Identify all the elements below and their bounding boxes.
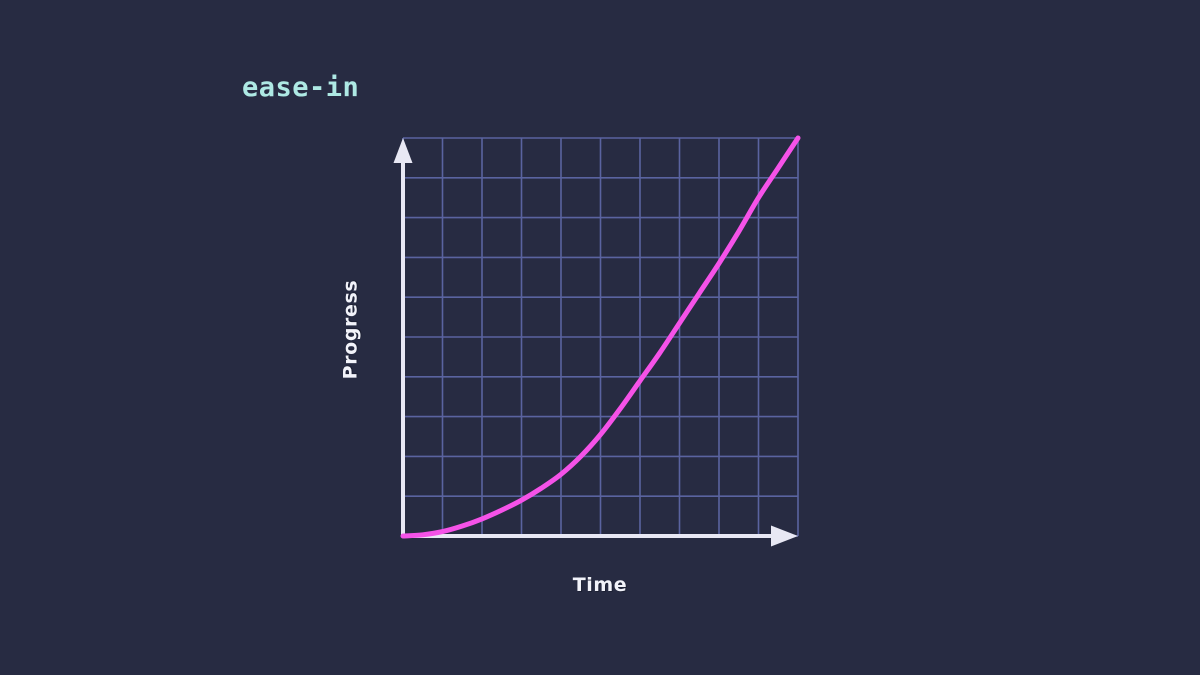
x-axis-label: Time [0, 576, 1200, 595]
easing-curve-figure: ease-in Time Progress [0, 0, 1200, 675]
grid-lines [403, 138, 798, 536]
axis-lines [394, 138, 799, 547]
arrow-right-icon [771, 526, 798, 547]
arrow-up-icon [394, 138, 413, 163]
y-axis-label: Progress [342, 270, 361, 390]
